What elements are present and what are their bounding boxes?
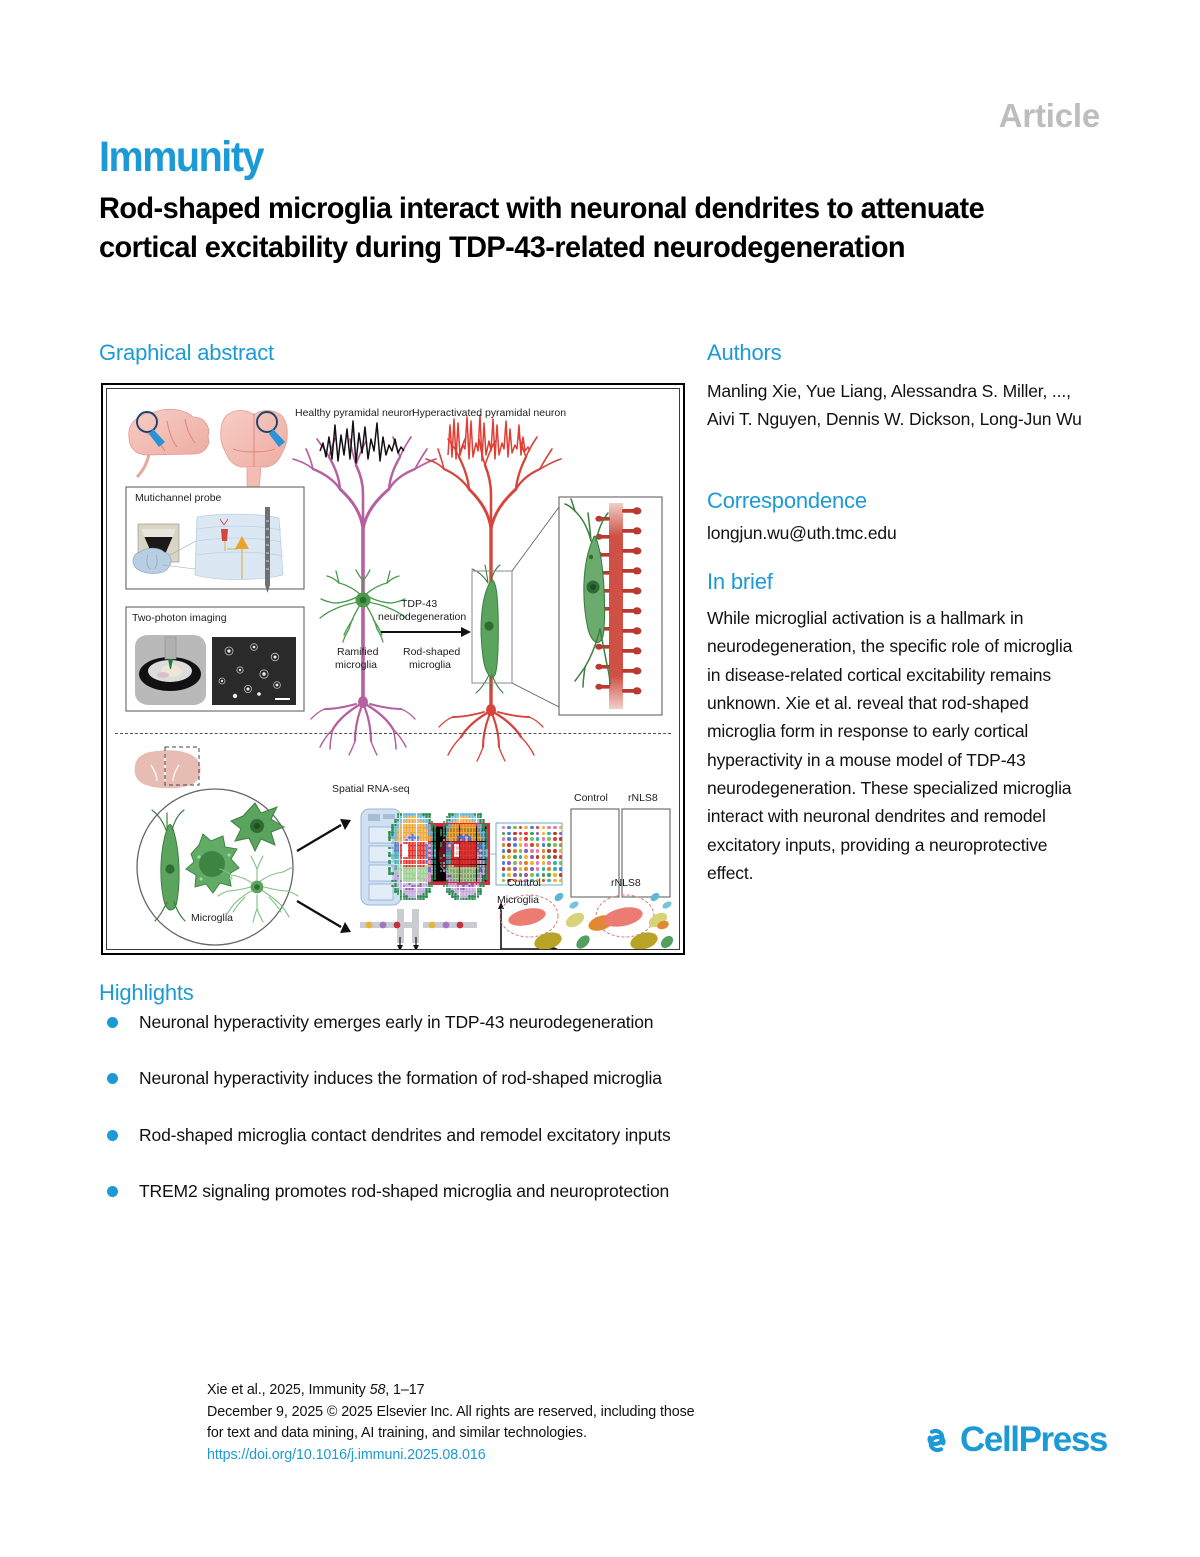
healthy-trace [320,421,404,463]
highlight-text: Neuronal hyperactivity emerges early in … [139,1008,719,1036]
amoeboid-microglia [186,834,239,893]
label-rod-line2: microglia [409,659,451,671]
citation-volume: 58 [370,1382,386,1398]
highlight-item: Neuronal hyperactivity emerges early in … [99,1008,719,1036]
graphical-abstract-heading: Graphical abstract [99,340,274,366]
bullet-icon [107,1130,118,1141]
bullet-icon [107,1017,118,1028]
label-tdp43-line1: TDP-43 [401,598,437,610]
copyright-line-1: December 9, 2025 © 2025 Elsevier Inc. Al… [207,1402,847,1424]
highlight-item: TREM2 signaling promotes rod-shaped micr… [99,1177,719,1205]
highlights-list: Neuronal hyperactivity emerges early in … [99,1008,719,1233]
scrnaseq-chip-illustration [360,909,477,949]
label-microglia-cluster: Microglia [497,894,539,906]
rod-shaped-microglia-illustration [472,565,503,693]
label-rnls8-umap: rNLS8 [611,877,641,889]
label-control-spatial: Control [574,792,608,804]
spot-array-dots [501,825,564,884]
spatial-rnaseq-arrow [297,819,351,851]
highlight-item: Rod-shaped microglia contact dendrites a… [99,1121,719,1149]
label-multichannel-probe: Mutichannel probe [135,492,221,504]
graphical-abstract-figure: Healthy pyramidal neuron Hyperactivated … [101,383,685,955]
citation-pages: , 1–17 [385,1382,424,1398]
umap-rnls8 [596,891,675,949]
page-title: Rod-shaped microglia interact with neuro… [99,190,1025,267]
article-type-label: Article [999,97,1100,135]
label-hyperactivated-neuron: Hyperactivated pyramidal neuron [412,407,566,419]
spatial-map-control-mosaic [388,813,436,900]
bullet-icon [107,1186,118,1197]
label-control-umap: Control [507,877,541,889]
label-healthy-neuron: Healthy pyramidal neuron [295,407,415,419]
label-rod-line1: Rod-shaped [403,646,460,658]
authors-list: Manling Xie, Yue Liang, Alessandra S. Mi… [707,377,1087,434]
bullet-icon [107,1073,118,1084]
cellpress-wordmark: CellPress [960,1420,1107,1460]
cellpress-mark-icon [920,1424,953,1457]
citation-line: Xie et al., 2025, Immunity 58, 1–17 [207,1380,847,1402]
in-brief-heading: In brief [707,569,773,595]
doi-link[interactable]: https://doi.org/10.1016/j.immuni.2025.08… [207,1445,847,1467]
highlight-text: Neuronal hyperactivity induces the forma… [139,1064,719,1092]
label-ramified-line1: Ramified [337,646,378,658]
label-ramified-line2: microglia [335,659,377,671]
authors-heading: Authors [707,340,781,366]
cellpress-logo: CellPress [920,1420,1107,1460]
label-microglia-circle: Microglia [191,912,233,924]
article-cover-page: Article Immunity Rod-shaped microglia in… [0,0,1200,1557]
tdp43-arrow [381,627,471,637]
highlights-heading: Highlights [99,980,194,1006]
spatial-map-rnls8-mosaic [440,813,488,900]
highlight-item: Neuronal hyperactivity induces the forma… [99,1064,719,1092]
brain-dorsal-icon [221,411,288,492]
healthy-neuron-soma [311,696,415,755]
journal-logo-immunity: Immunity [99,133,263,182]
correspondence-heading: Correspondence [707,488,867,514]
scrnaseq-arrow [297,901,351,933]
coronal-brain-thumbnail [135,747,201,788]
stellate-microglia [231,803,284,851]
label-spatial-rnaseq: Spatial RNA-seq [332,783,410,795]
label-two-photon-imaging: Two-photon imaging [132,612,227,624]
two-photon-imaging-illustration [135,635,296,705]
highlight-text: TREM2 signaling promotes rod-shaped micr… [139,1177,719,1205]
highlight-text: Rod-shaped microglia contact dendrites a… [139,1121,719,1149]
brain-sagittal-icon [129,409,209,477]
citation-prefix: Xie et al., 2025, Immunity [207,1382,370,1398]
label-rnls8-spatial: rNLS8 [628,792,658,804]
graphical-abstract-divider [115,733,671,734]
correspondence-email[interactable]: longjun.wu@uth.tmc.edu [707,519,1087,547]
in-brief-body: While microglial activation is a hallmar… [707,604,1089,887]
copyright-line-2: for text and data mining, AI training, a… [207,1423,847,1445]
microglia-cell-types [152,803,298,922]
label-tdp43-line2: neurodegeneration [378,611,466,623]
footer-citation-block: Xie et al., 2025, Immunity 58, 1–17 Dece… [207,1380,847,1467]
